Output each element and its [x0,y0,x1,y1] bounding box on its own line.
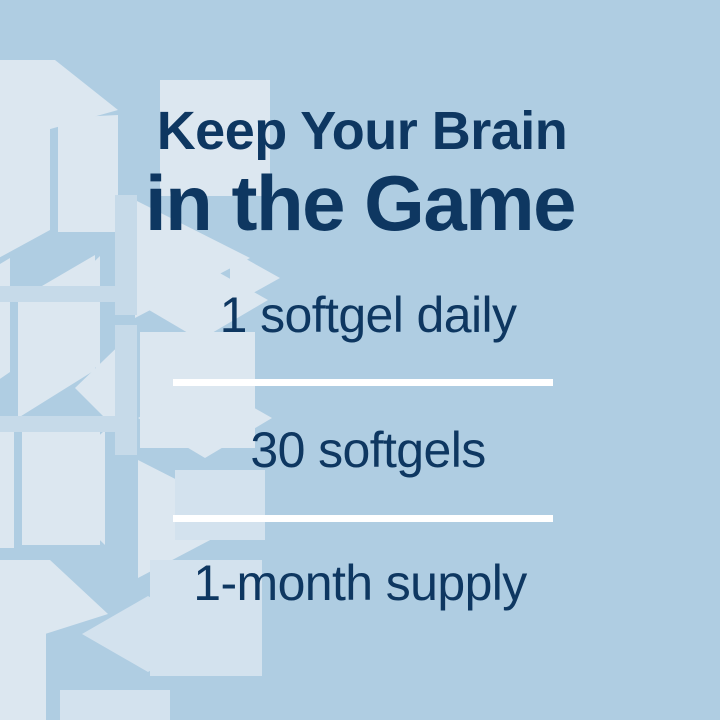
product-info-poster: Keep Your Brain in the Game 1 softgel da… [0,0,720,720]
headline: Keep Your Brain in the Game [0,104,720,244]
fact-count: 30 softgels [0,425,720,475]
headline-line-2: in the Game [0,164,720,244]
fact-dosage: 1 softgel daily [0,290,720,340]
headline-line-1: Keep Your Brain [0,104,720,158]
divider-1 [173,379,553,386]
poster-content: Keep Your Brain in the Game 1 softgel da… [0,0,720,720]
divider-2 [173,515,553,522]
fact-supply: 1-month supply [0,558,720,608]
